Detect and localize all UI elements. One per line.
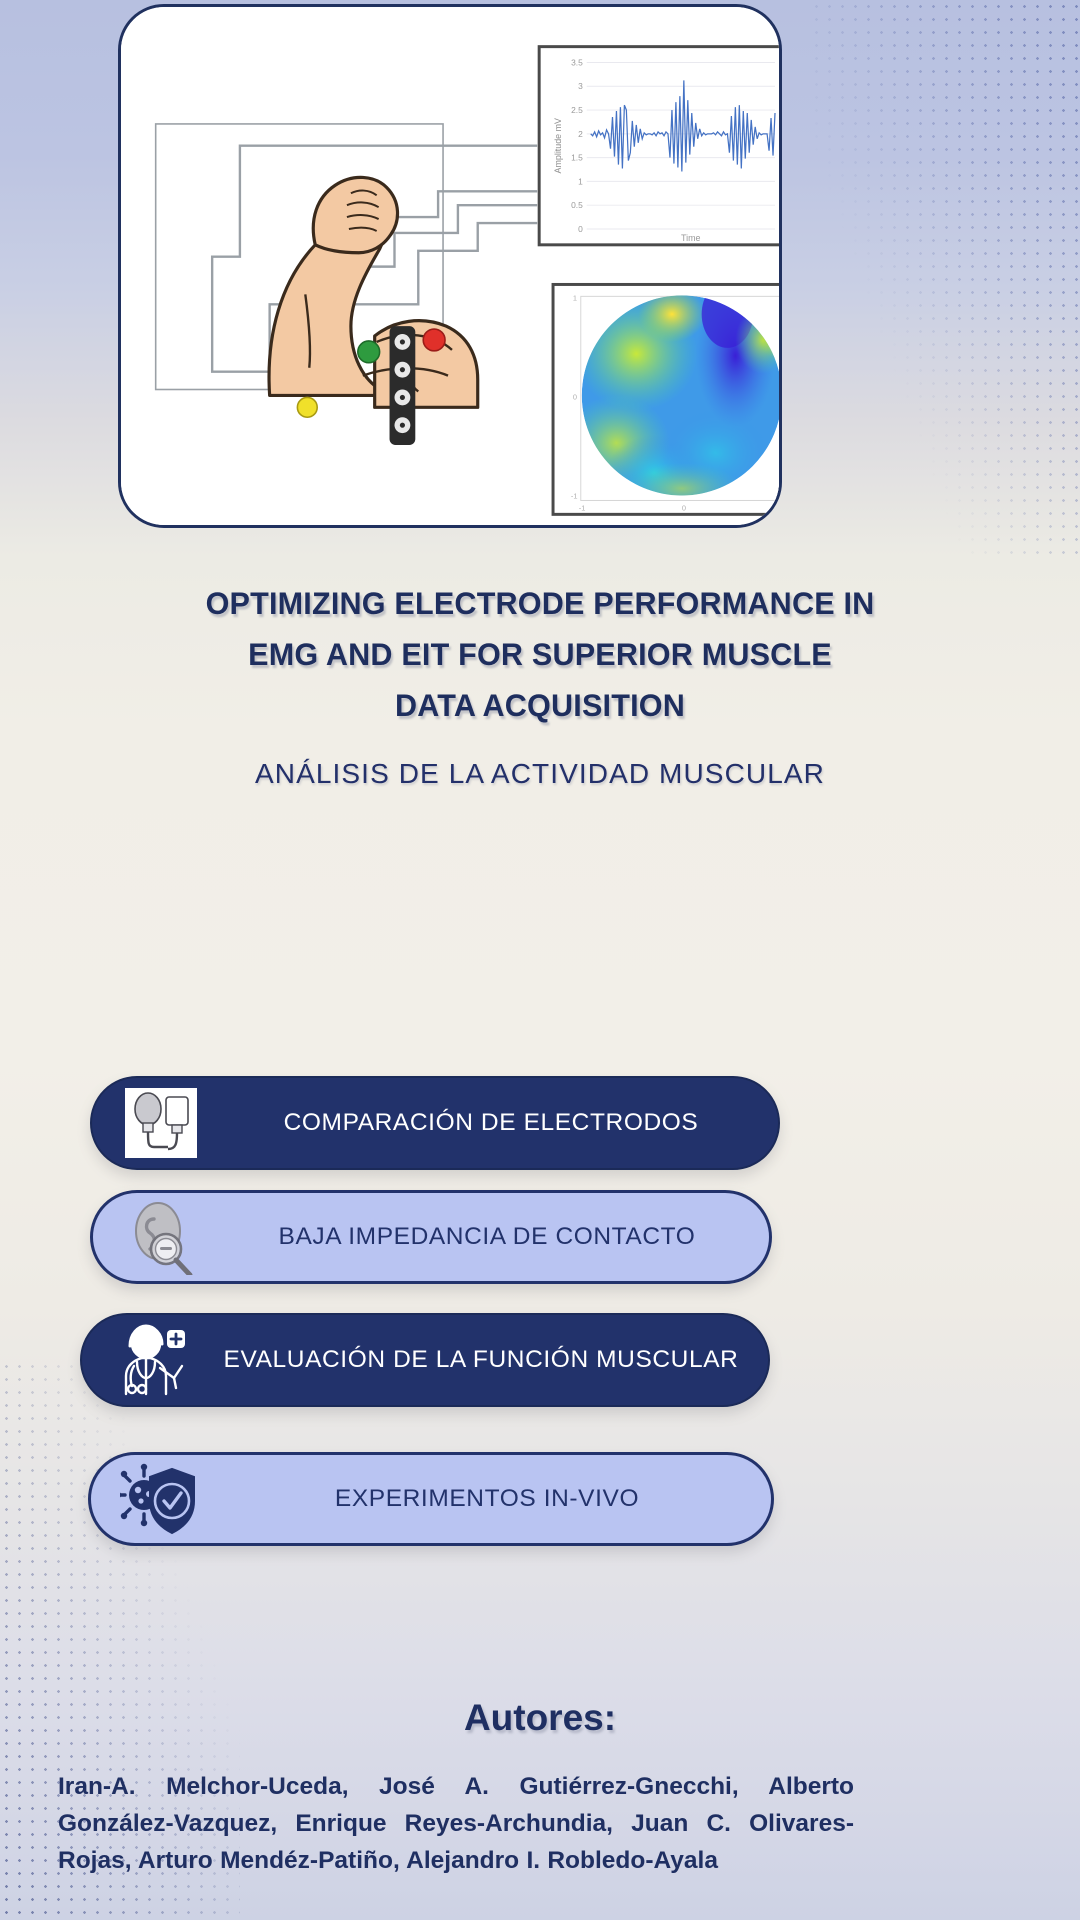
topic-pill-label: EXPERIMENTOS IN-VIVO (203, 1486, 771, 1513)
svg-text:3: 3 (578, 81, 583, 91)
magnifier-electrode-icon (119, 1196, 205, 1278)
topic-pill-experimentos-in-vivo[interactable]: EXPERIMENTOS IN-VIVO (88, 1452, 774, 1546)
shield-virus-icon (117, 1458, 203, 1540)
svg-text:1: 1 (578, 176, 583, 186)
doctor-icon (108, 1319, 194, 1401)
svg-text:-1: -1 (571, 491, 578, 500)
svg-text:-1: -1 (579, 503, 586, 512)
poster-page: 3.5 3 2.5 2 1.5 1 0.5 0 Amplitude mV Tim… (0, 0, 1080, 1920)
poster-subtitle: ANÁLISIS DE LA ACTIVIDAD MUSCULAR (60, 758, 1020, 790)
svg-text:0.5: 0.5 (571, 200, 583, 210)
title-line-3: DATA ACQUISITION (74, 680, 1005, 731)
topic-pill-baja-impedancia-de-contacto[interactable]: BAJA IMPEDANCIA DE CONTACTO (90, 1190, 772, 1284)
hero-image-card: 3.5 3 2.5 2 1.5 1 0.5 0 Amplitude mV Tim… (118, 4, 782, 528)
svg-text:1.5: 1.5 (571, 153, 583, 163)
hero-illustration: 3.5 3 2.5 2 1.5 1 0.5 0 Amplitude mV Tim… (121, 7, 779, 526)
authors-heading: Autores: (60, 1697, 1020, 1739)
electrode-marker-yellow (297, 397, 317, 417)
title-line-1: OPTIMIZING ELECTRODE PERFORMANCE IN (74, 578, 1005, 629)
svg-text:2: 2 (578, 129, 583, 139)
svg-text:2.5: 2.5 (571, 105, 583, 115)
topic-pill-evaluacion-de-la-funcion-muscular[interactable]: EVALUACIÓN DE LA FUNCIÓN MUSCULAR (80, 1313, 770, 1407)
svg-text:1: 1 (573, 293, 577, 302)
topic-pill-label: BAJA IMPEDANCIA DE CONTACTO (205, 1224, 769, 1251)
electrode-strip (390, 326, 416, 445)
svg-text:0: 0 (573, 392, 577, 401)
topic-pill-label: EVALUACIÓN DE LA FUNCIÓN MUSCULAR (194, 1347, 768, 1374)
svg-text:Time: Time (681, 233, 701, 243)
topic-pill-comparacion-de-electrodos[interactable]: COMPARACIÓN DE ELECTRODOS (90, 1076, 780, 1170)
electrode-marker-red (423, 329, 445, 351)
svg-text:3.5: 3.5 (571, 57, 583, 67)
authors-list: Iran-A. Melchor-Uceda, José A. Gutiérrez… (58, 1768, 854, 1880)
svg-text:Amplitude mV: Amplitude mV (553, 118, 563, 173)
svg-text:0: 0 (682, 503, 686, 512)
topic-pill-label: COMPARACIÓN DE ELECTRODOS (204, 1110, 778, 1137)
title-line-2: EMG AND EIT FOR SUPERIOR MUSCLE (74, 629, 1005, 680)
page-title: OPTIMIZING ELECTRODE PERFORMANCE IN EMG … (60, 578, 1020, 731)
electrode-marker-green (358, 341, 380, 363)
emg-chart-panel: 3.5 3 2.5 2 1.5 1 0.5 0 Amplitude mV Tim… (539, 47, 779, 245)
eit-chart-panel: 1 0 -1 -1 0 1 2.03691.8075 1.57801.3486 … (553, 280, 779, 514)
electrode-pair-icon (118, 1082, 204, 1164)
svg-text:0: 0 (578, 224, 583, 234)
